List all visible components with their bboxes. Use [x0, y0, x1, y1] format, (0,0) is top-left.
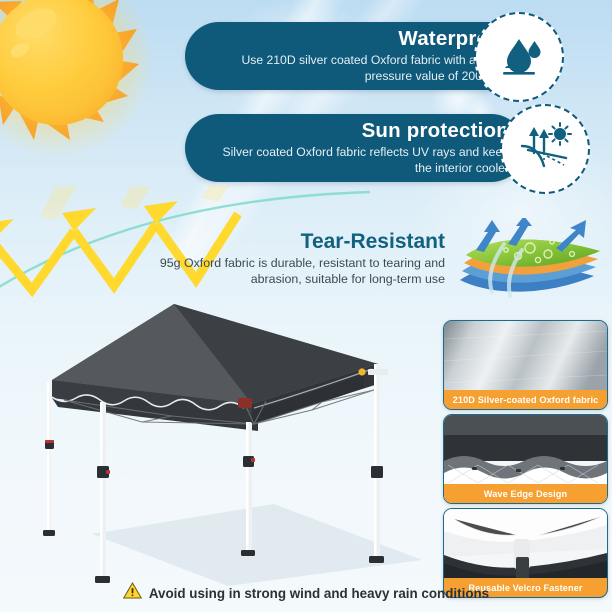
card-caption: Wave Edge Design	[444, 484, 607, 503]
warning-triangle-icon	[123, 582, 142, 604]
warning-row: Avoid using in strong wind and heavy rai…	[0, 582, 612, 604]
hotbest-logo	[358, 368, 388, 375]
fabric-layers-icon	[452, 218, 602, 306]
water-drop-icon	[474, 12, 564, 102]
detail-card-fabric[interactable]: 210D Silver-coated Oxford fabric	[443, 320, 608, 410]
feature-description: Use 210D silver coated Oxford fabric wit…	[209, 53, 509, 84]
feature-title: Sun protection	[362, 119, 509, 143]
sun-reflect-icon	[500, 104, 590, 194]
detail-card-wave-edge[interactable]: Wave Edge Design	[443, 414, 608, 504]
tear-resistant-description: 95g Oxford fabric is durable, resistant …	[140, 256, 445, 287]
feature-banner-sun-protection: Sun protection Silver coated Oxford fabr…	[185, 114, 525, 182]
tear-resistant-title: Tear-Resistant	[165, 230, 445, 254]
card-caption: 210D Silver-coated Oxford fabric	[444, 390, 607, 409]
sun-icon	[0, 0, 152, 156]
pop-up-canopy-tent	[22, 298, 432, 588]
feature-description: Silver coated Oxford fabric reflects UV …	[209, 145, 509, 176]
warning-text: Avoid using in strong wind and heavy rai…	[149, 586, 489, 601]
